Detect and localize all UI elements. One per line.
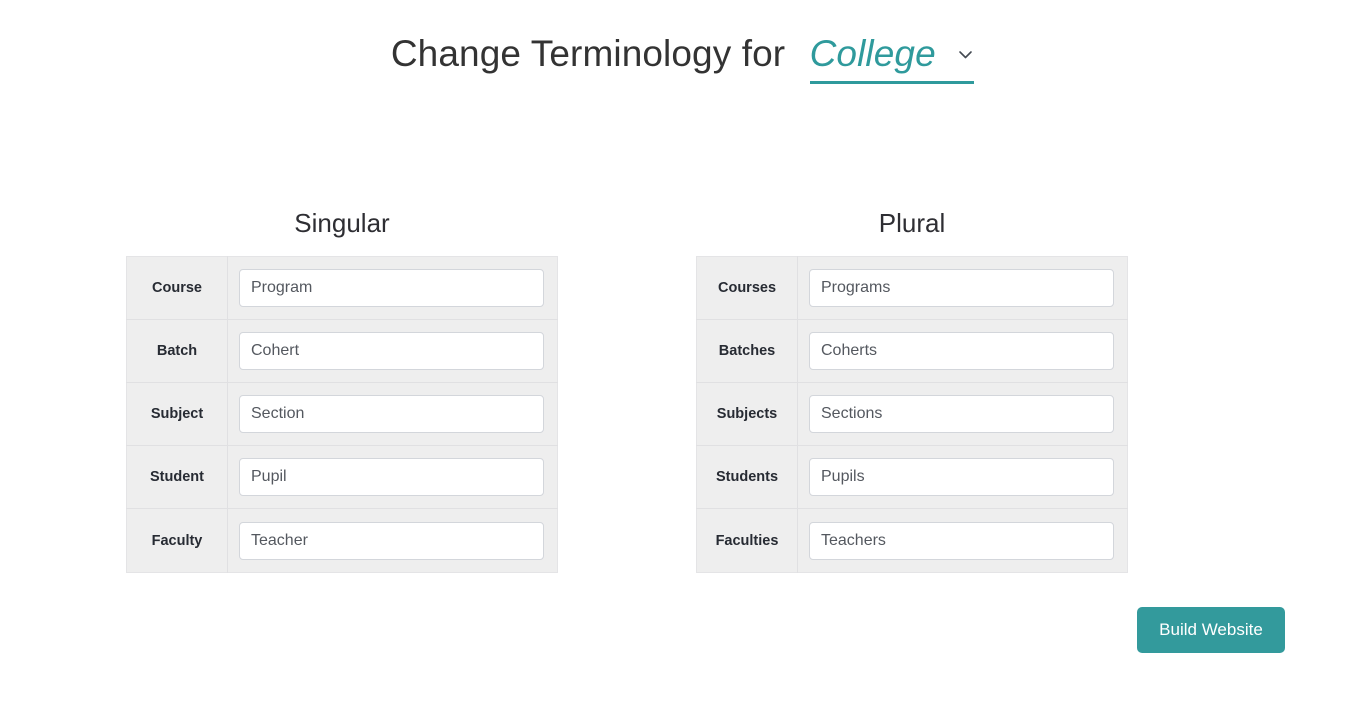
singular-student-input[interactable] — [239, 458, 544, 496]
plural-subjects-input[interactable] — [809, 395, 1114, 433]
table-row: Subject — [127, 383, 558, 446]
table-row: Course — [127, 257, 558, 320]
table-row: Faculties — [697, 509, 1128, 573]
term-label: Student — [127, 446, 228, 509]
table-row: Student — [127, 446, 558, 509]
table-row: Batches — [697, 320, 1128, 383]
plural-courses-input[interactable] — [809, 269, 1114, 307]
terminology-settings-page: Change Terminology for College Singular … — [0, 0, 1365, 709]
term-field-cell — [798, 320, 1128, 383]
page-title: Change Terminology for College — [0, 33, 1365, 84]
term-label: Batch — [127, 320, 228, 383]
term-field-cell — [798, 383, 1128, 446]
term-label: Course — [127, 257, 228, 320]
singular-terminology-table: Course Batch Subject Student — [126, 256, 558, 573]
plural-faculties-input[interactable] — [809, 522, 1114, 560]
term-label: Faculties — [697, 509, 798, 573]
table-row: Faculty — [127, 509, 558, 573]
chevron-down-icon — [957, 46, 974, 63]
plural-terminology-table: Courses Batches Subjects Students — [696, 256, 1128, 573]
table-row: Students — [697, 446, 1128, 509]
singular-batch-input[interactable] — [239, 332, 544, 370]
table-row: Subjects — [697, 383, 1128, 446]
entity-dropdown[interactable]: College — [810, 33, 975, 84]
plural-students-input[interactable] — [809, 458, 1114, 496]
singular-course-input[interactable] — [239, 269, 544, 307]
term-label: Students — [697, 446, 798, 509]
plural-batches-input[interactable] — [809, 332, 1114, 370]
term-label: Batches — [697, 320, 798, 383]
term-field-cell — [798, 509, 1128, 573]
term-field-cell — [228, 320, 558, 383]
build-website-button[interactable]: Build Website — [1137, 607, 1285, 653]
entity-dropdown-label: College — [810, 33, 942, 74]
term-label: Subject — [127, 383, 228, 446]
term-field-cell — [228, 383, 558, 446]
singular-faculty-input[interactable] — [239, 522, 544, 560]
plural-column-heading: Plural — [696, 208, 1128, 239]
singular-subject-input[interactable] — [239, 395, 544, 433]
term-label: Courses — [697, 257, 798, 320]
term-field-cell — [798, 446, 1128, 509]
table-row: Courses — [697, 257, 1128, 320]
term-label: Faculty — [127, 509, 228, 573]
term-field-cell — [228, 257, 558, 320]
term-field-cell — [228, 446, 558, 509]
term-field-cell — [228, 509, 558, 573]
term-field-cell — [798, 257, 1128, 320]
table-row: Batch — [127, 320, 558, 383]
singular-column-heading: Singular — [126, 208, 558, 239]
page-title-static-text: Change Terminology for — [391, 33, 785, 74]
term-label: Subjects — [697, 383, 798, 446]
